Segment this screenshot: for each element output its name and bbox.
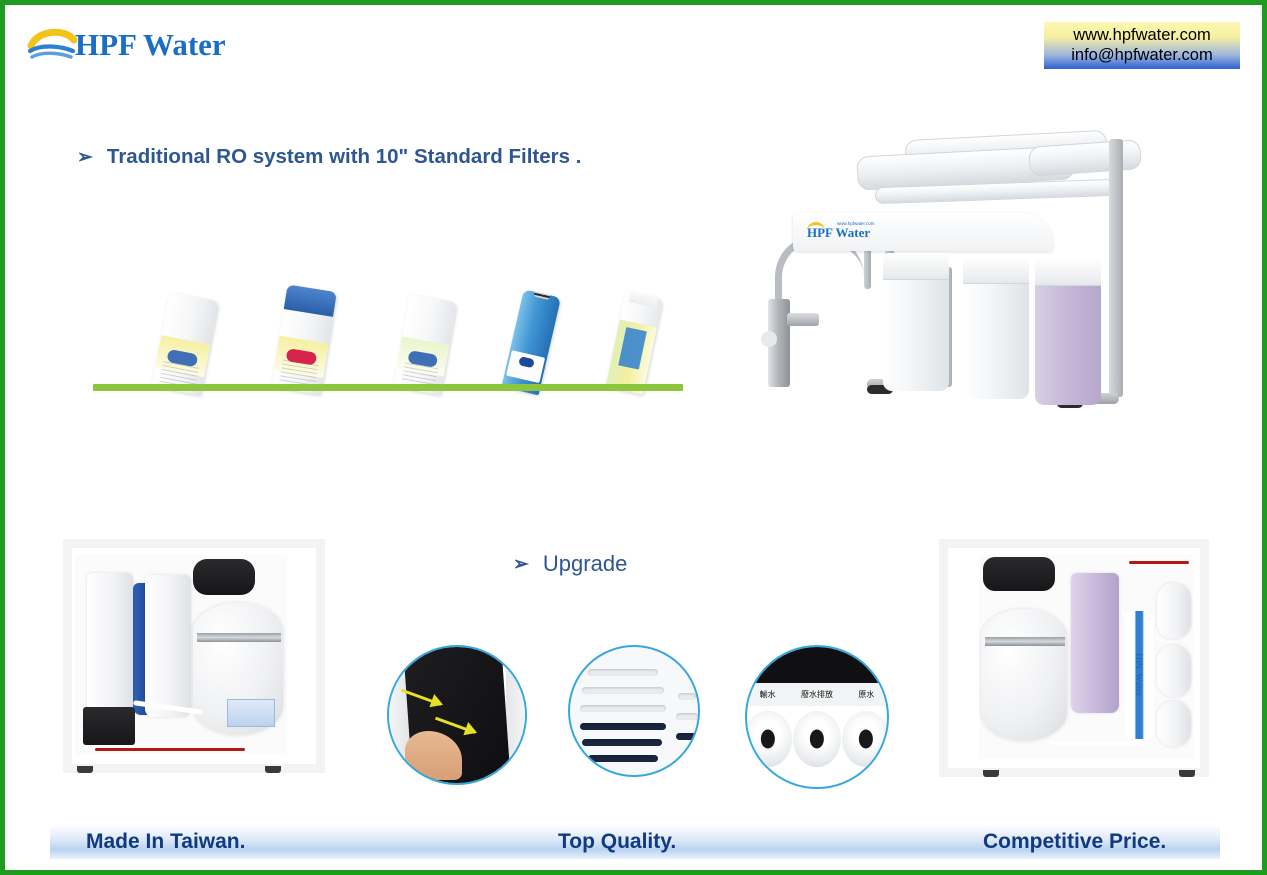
contact-info-box: www.hpfwater.com info@hpfwater.com <box>1044 22 1240 69</box>
cabinet-foot-left <box>983 770 999 777</box>
pump-motor <box>983 557 1055 591</box>
detail-image <box>389 647 525 783</box>
upgraded-cabinet-ro-photo: HPF Water <box>939 539 1209 777</box>
email-text[interactable]: info@hpfwater.com <box>1050 45 1234 65</box>
housing-body <box>883 280 949 391</box>
tank-label <box>227 699 275 727</box>
membrane-logo-text: HPF Water <box>1134 653 1144 697</box>
website-text[interactable]: www.hpfwater.com <box>1050 25 1234 45</box>
bullet-traditional-ro: ➢ Traditional RO system with 10" Standar… <box>77 145 581 169</box>
black-cover-edge <box>747 647 887 683</box>
white-filter-housing-1 <box>87 573 133 715</box>
vent-slot <box>588 669 658 676</box>
white-filter-housing-2 <box>145 575 191 717</box>
vent-slot-right <box>676 733 698 740</box>
power-cable <box>95 748 245 751</box>
vent-slot <box>580 705 666 712</box>
housing-cap <box>1035 259 1101 286</box>
ro-brand-panel: www.hpfwater.com HPF Water <box>793 213 1053 251</box>
bullet-arrow-icon: ➢ <box>77 148 93 167</box>
tagline-competitive-price: Competitive Price. <box>983 830 1166 854</box>
tagline-top-quality: Top Quality. <box>558 830 676 854</box>
panel-sun-icon <box>807 222 825 234</box>
cartridge-pp-sediment-filter <box>151 292 218 396</box>
bottom-tagline-banner: Made In Taiwan. Top Quality. Competitive… <box>50 825 1220 859</box>
ro-faucet-handle <box>787 313 819 326</box>
cartridge-ro-membrane <box>501 289 561 395</box>
cartridge-pp-1micron-filter <box>393 294 457 395</box>
inline-filter-mid <box>1157 645 1191 697</box>
housing-cap <box>883 253 949 280</box>
quick-connect-port-1 <box>745 711 792 767</box>
port-label-source: 原水 <box>858 689 874 700</box>
hpf-membrane: HPF Water <box>1125 611 1153 739</box>
cartridge-baseline <box>93 384 683 391</box>
pressure-tank <box>981 609 1067 741</box>
vent-slot <box>580 723 666 730</box>
cabinet-foot-right <box>1179 770 1195 777</box>
standard-cabinet-ro-photo <box>63 539 325 773</box>
pump-motor <box>193 559 255 595</box>
stage-3-housing <box>1035 259 1101 405</box>
cartridge-cto-carbon-filter <box>271 284 337 395</box>
clear-purple-housing <box>1071 573 1119 713</box>
bullet-upgrade-text: Upgrade <box>543 551 627 577</box>
tubing <box>1049 741 1145 745</box>
cabinet-foot-right <box>265 766 281 773</box>
port-label-inlet: 輸水 <box>760 689 776 700</box>
booster-pump <box>83 707 135 745</box>
detail-quick-connect-ports: 輸水 廢水排放 原水 <box>745 645 889 789</box>
vent-slot <box>582 687 664 694</box>
cabinet-interior: HPF Water <box>979 555 1193 759</box>
vent-slot-right <box>678 693 696 700</box>
housing-body <box>1035 286 1101 405</box>
tank-band <box>985 637 1065 646</box>
port-label-row: 輸水 廢水排放 原水 <box>747 683 887 705</box>
cabinet-foot-left <box>77 766 93 773</box>
vent-slot <box>588 755 658 762</box>
hpf-water-logo: HPF Water <box>27 23 226 65</box>
detail-image: 輸水 廢水排放 原水 <box>747 647 887 787</box>
detail-easy-open-cover <box>387 645 527 785</box>
detail-ventilation-slots <box>568 645 700 777</box>
power-cable <box>1129 561 1189 564</box>
bullet-upgrade: ➢ Upgrade <box>513 551 627 577</box>
stage-1-housing <box>883 253 949 391</box>
detail-image <box>570 647 698 775</box>
slide-canvas: HPF Water www.hpfwater.com info@hpfwater… <box>0 0 1267 875</box>
port-label-drain: 廢水排放 <box>801 689 833 700</box>
top-membrane-right <box>1028 139 1142 177</box>
cartridge-post-carbon-filter <box>605 291 663 395</box>
cabinet-interior <box>75 555 287 755</box>
tagline-made-in-taiwan: Made In Taiwan. <box>86 830 245 854</box>
traditional-ro-system-photo: www.hpfwater.com HPF Water <box>757 117 1157 417</box>
inline-filter-bottom <box>1157 701 1191 747</box>
quick-connect-port-2 <box>793 711 841 767</box>
stage-2-housing <box>963 257 1029 399</box>
bullet-traditional-ro-text: Traditional RO system with 10" Standard … <box>107 145 582 169</box>
cartridge-cap <box>284 284 337 316</box>
housing-body <box>963 284 1029 399</box>
filter-cartridge-lineup <box>93 283 685 395</box>
tank-band <box>197 633 281 642</box>
vent-slot <box>582 739 662 746</box>
housing-cap <box>963 257 1029 284</box>
logo-text: HPF Water <box>75 29 226 60</box>
quick-connect-port-3 <box>842 711 889 767</box>
membrane-o-rings <box>533 289 552 300</box>
panel-url-text: www.hpfwater.com <box>837 221 875 226</box>
cabinet-edge-right <box>506 661 525 764</box>
bullet-arrow-icon: ➢ <box>513 555 529 574</box>
inline-filter-top <box>1157 583 1191 639</box>
sun-wave-logo-icon <box>27 24 79 64</box>
frame-post-right <box>1109 139 1123 397</box>
cartridge-cap <box>629 291 659 308</box>
vent-slot-right <box>676 713 698 720</box>
ro-faucet-knob <box>761 331 777 347</box>
